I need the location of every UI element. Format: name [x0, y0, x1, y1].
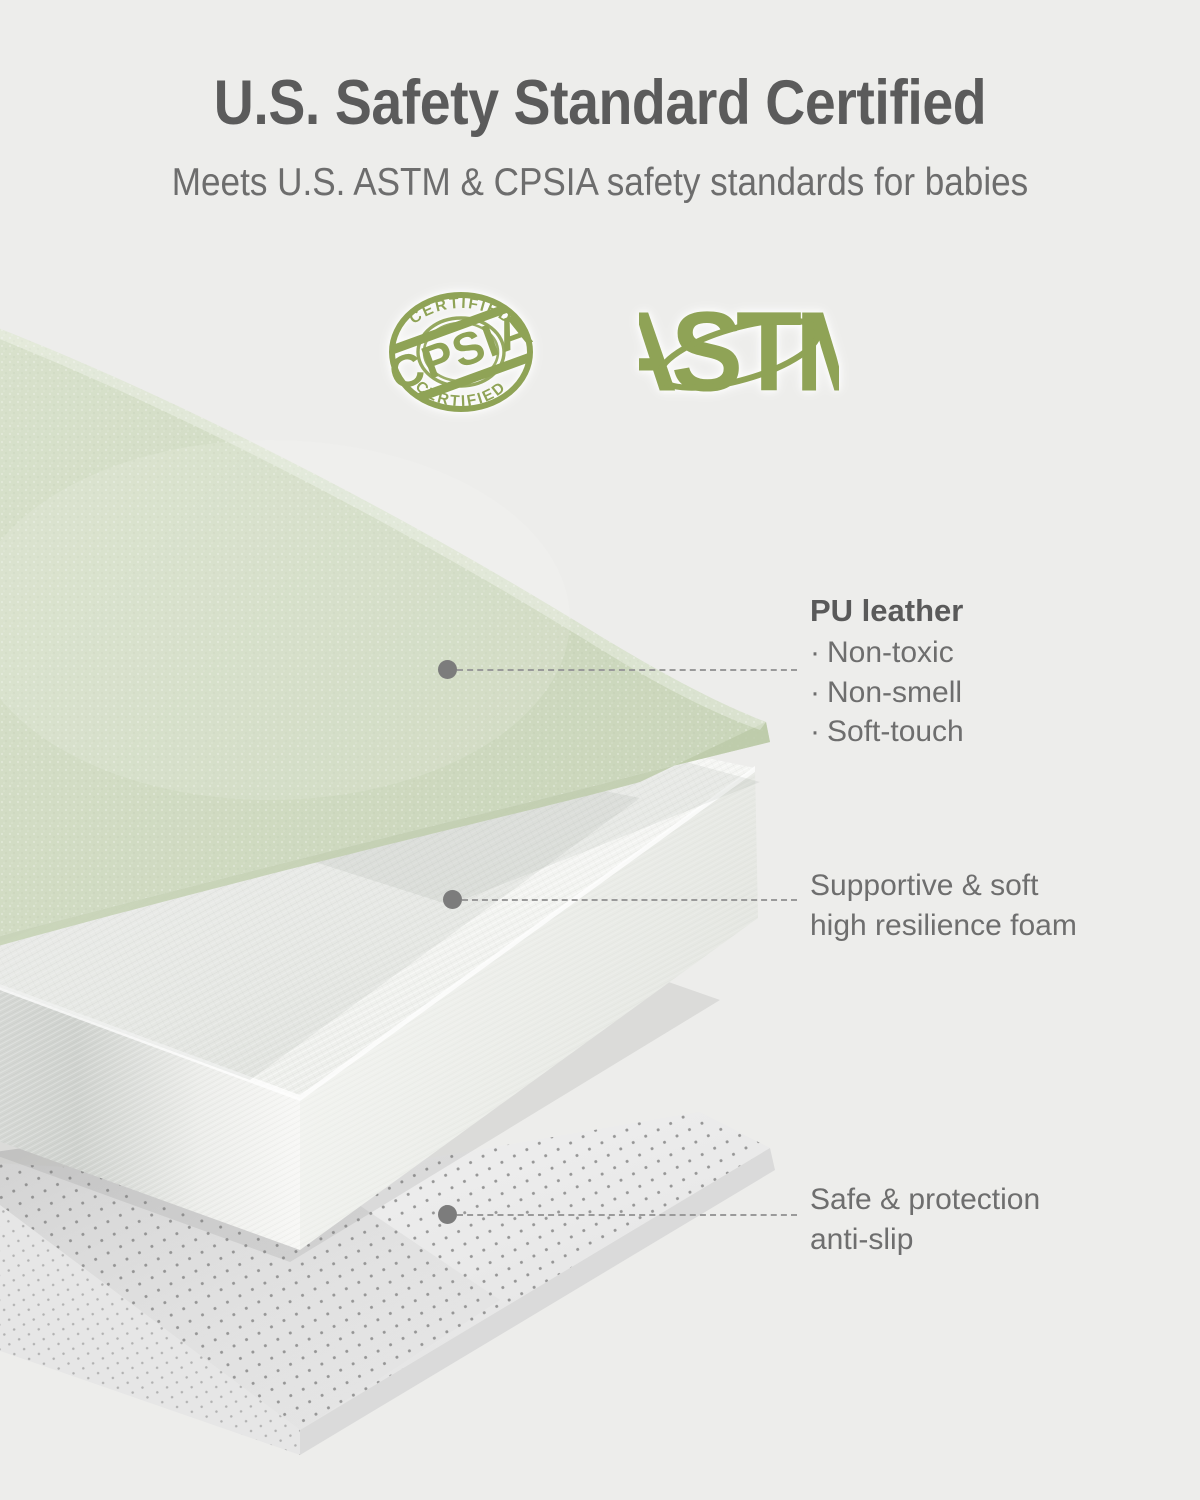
callout-foam-line-1: Supportive & soft [810, 866, 1077, 906]
callout-anti-slip: Safe & protection anti-slip [810, 1180, 1040, 1259]
cpsia-badge: CERTIFIED CERTIFIED CPSIA [361, 272, 561, 437]
bullet-icon: · [810, 715, 820, 748]
astm-badge-icon: ASTM ASTM [639, 272, 839, 432]
callout-pu-leather: PU leather ·Non-toxic ·Non-smell ·Soft-t… [810, 591, 964, 752]
astm-badge: ASTM ASTM [639, 272, 839, 437]
callout-anti-slip-line-1: Safe & protection [810, 1180, 1040, 1220]
callout-pu-leather-line-3: ·Soft-touch [810, 712, 964, 752]
infographic-canvas: U.S. Safety Standard Certified Meets U.S… [0, 0, 1200, 1500]
callout-anti-slip-line-2: anti-slip [810, 1220, 1040, 1260]
callout-pu-leather-line-3-text: Soft-touch [827, 715, 964, 748]
cpsia-badge-icon: CERTIFIED CERTIFIED CPSIA [361, 272, 561, 432]
callout-foam-line-2: high resilience foam [810, 906, 1077, 946]
callout-pu-leather-line-1-text: Non-toxic [827, 636, 954, 669]
callout-pu-leather-line-2: ·Non-smell [810, 673, 964, 713]
callout-pu-leather-line-2-text: Non-smell [827, 676, 962, 709]
callout-foam: Supportive & soft high resilience foam [810, 866, 1077, 945]
callout-texts: PU leather ·Non-toxic ·Non-smell ·Soft-t… [0, 0, 1200, 1500]
certification-badges: CERTIFIED CERTIFIED CPSIA ASTM [0, 272, 1200, 437]
callout-pu-leather-heading: PU leather [810, 591, 964, 631]
callout-pu-leather-line-1: ·Non-toxic [810, 633, 964, 673]
page-subtitle: Meets U.S. ASTM & CPSIA safety standards… [60, 135, 1140, 205]
header: U.S. Safety Standard Certified Meets U.S… [0, 0, 1200, 205]
bullet-icon: · [810, 676, 820, 709]
page-title: U.S. Safety Standard Certified [72, 0, 1128, 135]
bullet-icon: · [810, 636, 820, 669]
